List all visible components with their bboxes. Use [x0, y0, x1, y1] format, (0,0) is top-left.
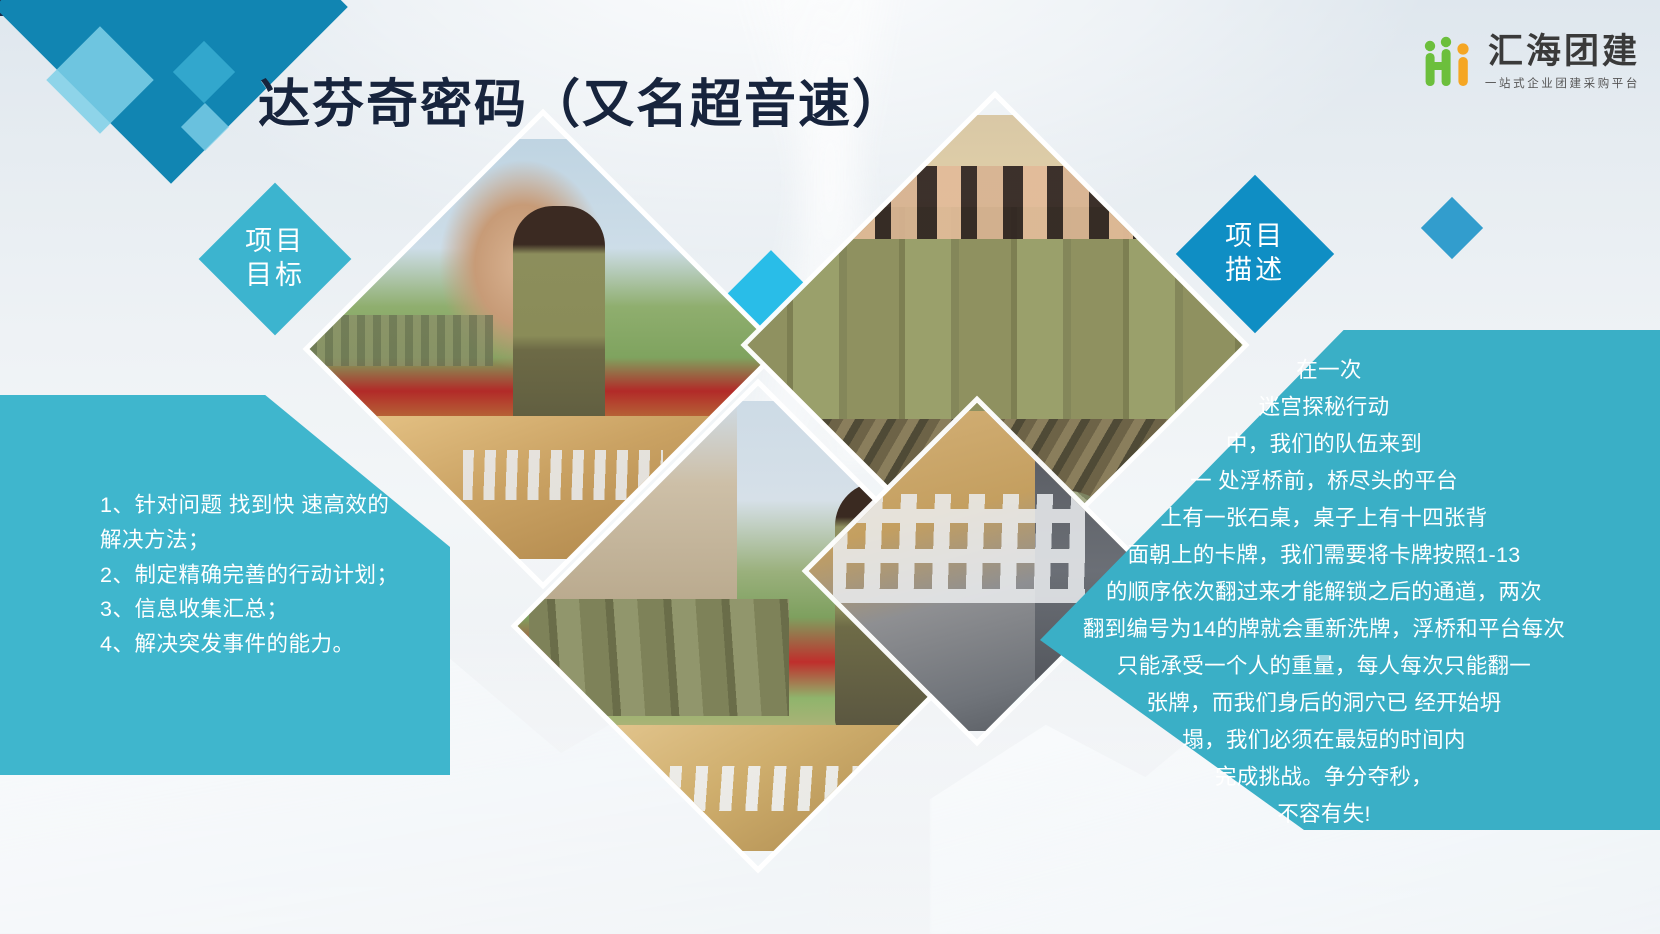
- goal-item: 解决方法；: [100, 523, 440, 558]
- description-text: 在一次 迷宫探秘行动 中，我们的队伍来到 一 处浮桥前，桥尽头的平台 上有一张石…: [1014, 352, 1634, 833]
- label-description-text: 项目 描述: [1225, 220, 1285, 288]
- description-line: 上有一张石桌，桌子上有十四张背: [1014, 500, 1634, 537]
- description-line: 面朝上的卡牌，我们需要将卡牌按照1-13: [1014, 537, 1634, 574]
- goal-item: 3、信息收集汇总；: [100, 592, 440, 627]
- brand-logo[interactable]: 汇海团建 一站式企业团建采购平台: [1421, 34, 1640, 92]
- description-line: 塌，我们必须在最短的时间内: [1014, 722, 1634, 759]
- description-line: 张牌，而我们身后的洞穴已 经开始坍: [1014, 685, 1634, 722]
- description-line: 不容有失!: [1014, 796, 1634, 833]
- goals-list: 1、针对问题 找到快 速高效的 解决方法； 2、制定精确完善的行动计划； 3、信…: [100, 488, 440, 662]
- description-line: 完成挑战。争分夺秒，: [1014, 759, 1634, 796]
- label-goal-text: 项目 目标: [245, 225, 305, 293]
- logo-text-group: 汇海团建 一站式企业团建采购平台: [1485, 34, 1640, 91]
- logo-tagline: 一站式企业团建采购平台: [1485, 75, 1640, 91]
- description-line: 只能承受一个人的重量，每人每次只能翻一: [1014, 648, 1634, 685]
- description-line: 在一次: [1014, 352, 1634, 389]
- description-line: 翻到编号为14的牌就会重新洗牌，浮桥和平台每次: [1014, 611, 1634, 648]
- goal-item: 2、制定精确完善的行动计划；: [100, 558, 440, 593]
- goal-item: 1、针对问题 找到快 速高效的: [100, 488, 440, 523]
- description-line: 一 处浮桥前，桥尽头的平台: [1014, 463, 1634, 500]
- description-line: 中，我们的队伍来到: [1014, 426, 1634, 463]
- logo-name: 汇海团建: [1488, 34, 1640, 69]
- description-line: 迷宫探秘行动: [1014, 389, 1634, 426]
- description-line: 的顺序依次翻过来才能解锁之后的通道，两次: [1014, 574, 1634, 611]
- slide-root: 达芬奇密码（又名超音速） 汇海团建 一站式企业团建采购平台: [0, 0, 1660, 934]
- page-title: 达芬奇密码（又名超音速）: [258, 62, 906, 137]
- goal-item: 4、解决突发事件的能力。: [100, 627, 440, 662]
- hi-people-icon: [1421, 34, 1477, 92]
